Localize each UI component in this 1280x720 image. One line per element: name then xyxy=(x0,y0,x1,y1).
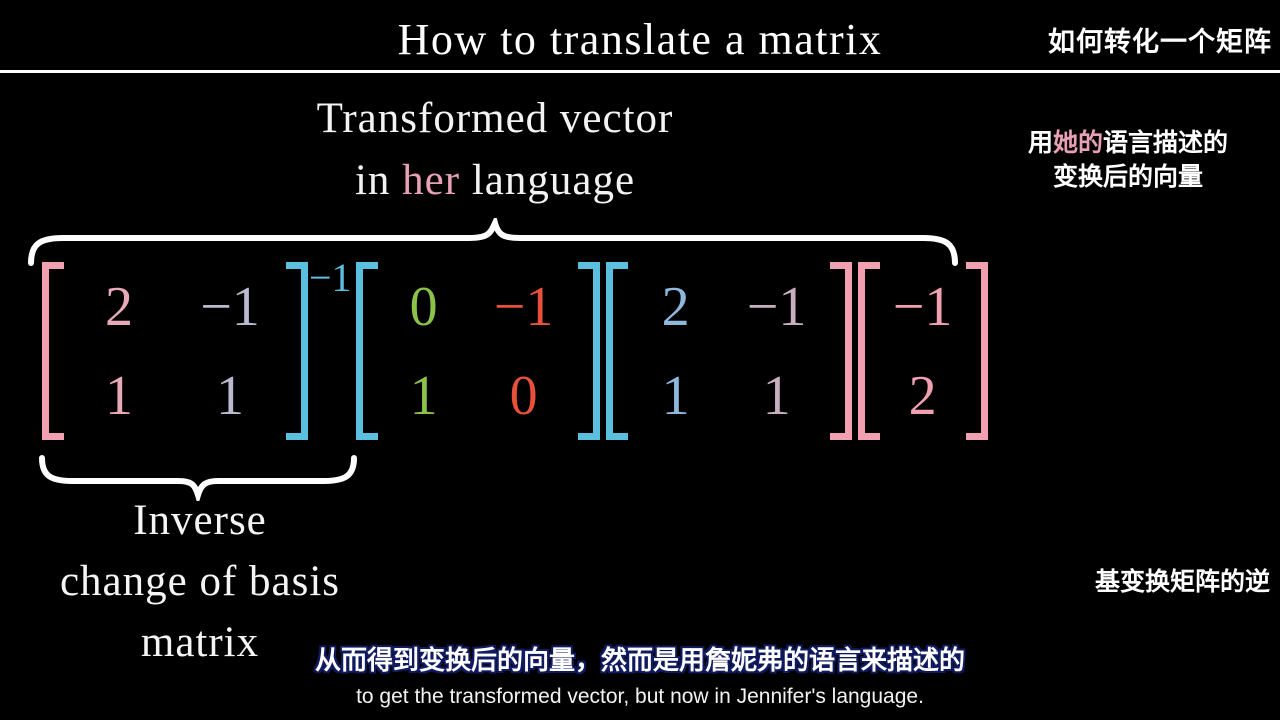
matrix-cells: 0 1 −1 0 xyxy=(378,262,578,440)
matrix-exponent: −1 xyxy=(309,258,352,298)
matrix-transformation: 0 1 −1 0 xyxy=(356,262,600,440)
label-her-emphasis: her xyxy=(402,157,460,204)
matrix-column-1: 2 1 xyxy=(628,262,724,440)
label-line2-pre: in xyxy=(355,157,402,204)
video-frame: How to translate a matrix 如何转化一个矩阵 Trans… xyxy=(0,0,1280,720)
matrix-cell: 1 xyxy=(174,351,286,440)
cn-her-emphasis: 她的 xyxy=(1053,128,1103,157)
cn-top-line2: 变换后的向量 xyxy=(988,160,1268,194)
vector-cell: 2 xyxy=(880,351,966,440)
page-title-chinese: 如何转化一个矩阵 xyxy=(1048,20,1272,59)
matrix-cells: 2 1 −1 1 xyxy=(64,262,286,440)
lower-label-line2: change of basis xyxy=(0,551,400,612)
matrix-column-2: −1 0 xyxy=(470,262,578,440)
matrix-cell: 1 xyxy=(628,351,724,440)
bracket-right xyxy=(830,262,852,440)
header-divider xyxy=(0,70,1280,73)
matrix-cell: −1 xyxy=(470,262,578,351)
label-line2-post: language xyxy=(460,157,635,204)
matrix-column-1: 2 1 xyxy=(64,262,174,440)
vector-input: −1 2 xyxy=(858,262,988,440)
matrix-column-1: 0 1 xyxy=(378,262,470,440)
cn-top-line1-pre: 用 xyxy=(1028,128,1053,157)
matrix-column-2: −1 1 xyxy=(174,262,286,440)
transformed-vector-label-line2: in her language xyxy=(175,150,815,212)
matrix-expression: 2 1 −1 1 −1 0 1 −1 0 xyxy=(0,262,988,442)
matrix-cell: 2 xyxy=(628,262,724,351)
matrix-cell: 0 xyxy=(378,262,470,351)
matrix-cell: −1 xyxy=(174,262,286,351)
vector-cell: −1 xyxy=(880,262,966,351)
bracket-left xyxy=(356,262,378,440)
matrix-change-of-basis: 2 1 −1 1 xyxy=(606,262,852,440)
vector-cells: −1 2 xyxy=(880,262,966,440)
matrix-inverse-change-of-basis: 2 1 −1 1 −1 xyxy=(42,262,352,440)
cn-top-line1: 用她的语言描述的 xyxy=(988,126,1268,160)
bracket-right xyxy=(966,262,988,440)
matrix-cell: 0 xyxy=(470,351,578,440)
matrix-cell: 2 xyxy=(64,262,174,351)
bracket-right xyxy=(578,262,600,440)
cn-top-line1-post: 语言描述的 xyxy=(1103,128,1228,157)
subtitle-chinese: 从而得到变换后的向量，然而是用詹妮弗的语言来描述的 xyxy=(0,640,1280,677)
bracket-left xyxy=(42,262,64,440)
bracket-right xyxy=(286,262,308,440)
transformed-vector-label: Transformed vector in her language xyxy=(175,88,815,213)
vector-column-1: −1 2 xyxy=(880,262,966,440)
transformed-vector-label-line1: Transformed vector xyxy=(175,88,815,150)
subtitle-english: to get the transformed vector, but now i… xyxy=(0,685,1280,709)
transformed-vector-label-chinese: 用她的语言描述的 变换后的向量 xyxy=(988,126,1268,194)
matrix-cell: 1 xyxy=(724,351,830,440)
matrix-cell: 1 xyxy=(378,351,470,440)
matrix-column-2: −1 1 xyxy=(724,262,830,440)
matrix-cell: −1 xyxy=(724,262,830,351)
bracket-left xyxy=(858,262,880,440)
top-brace-icon xyxy=(28,218,958,266)
inverse-change-of-basis-label-chinese: 基变换矩阵的逆 xyxy=(1095,562,1270,598)
matrix-cells: 2 1 −1 1 xyxy=(628,262,830,440)
bracket-left xyxy=(606,262,628,440)
matrix-cell: 1 xyxy=(64,351,174,440)
lower-label-line1: Inverse xyxy=(0,490,400,551)
